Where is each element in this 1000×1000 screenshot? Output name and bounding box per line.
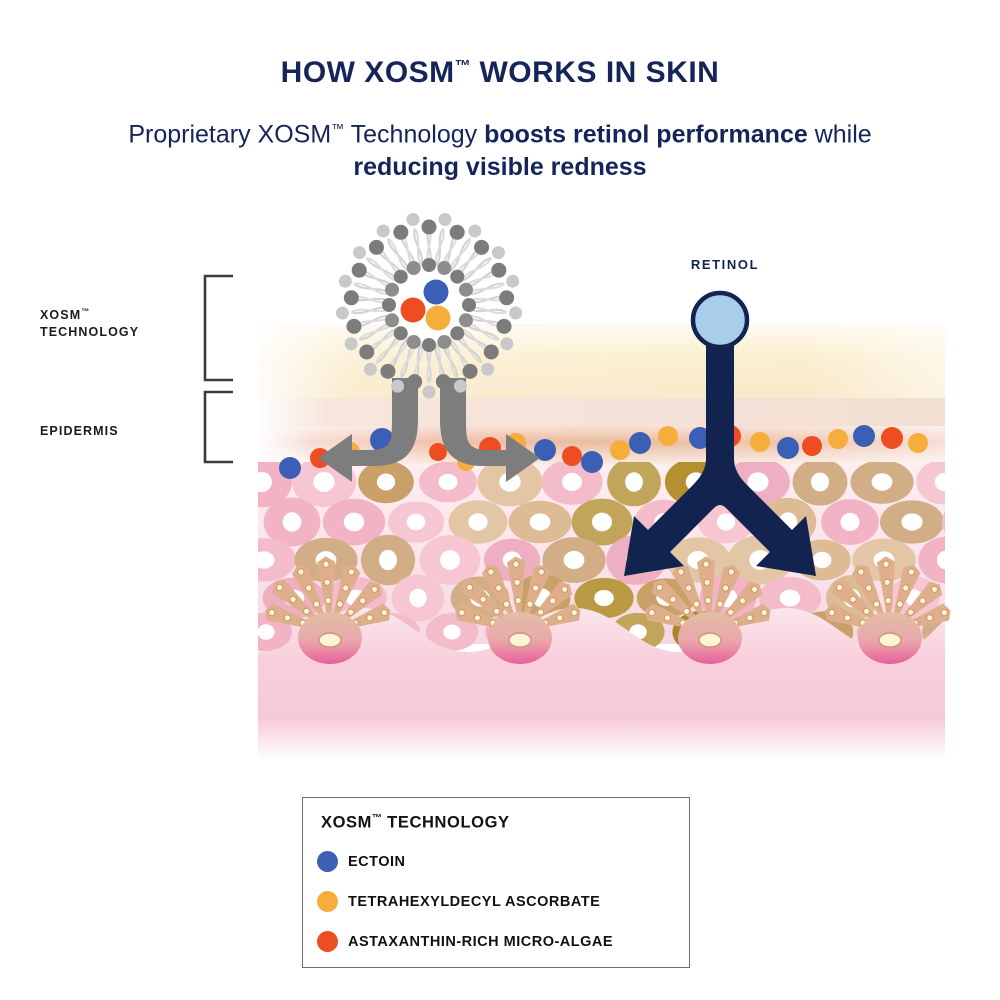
lipid-head: [407, 213, 420, 226]
legend-title: XOSM™ TECHNOLOGY: [321, 813, 510, 833]
melanin-granule: [684, 608, 690, 614]
melanin-granule: [313, 601, 319, 607]
cell-nucleus: [592, 513, 612, 532]
cell-nucleus: [780, 590, 801, 607]
cell-nucleus: [937, 551, 955, 570]
melanin-granule: [513, 561, 519, 567]
lipid-head: [509, 307, 522, 320]
infographic-root: HOW XOSM™ WORKS IN SKIN Proprietary XOSM…: [0, 0, 1000, 1000]
melanin-granule: [678, 569, 684, 575]
melanin-granule: [480, 596, 486, 602]
cell-nucleus: [562, 473, 582, 491]
molecule-ectoin: [853, 425, 875, 447]
legend-title-prefix: XOSM: [321, 814, 372, 832]
cell-nucleus: [344, 513, 365, 532]
melanin-granule: [494, 608, 500, 614]
melanin-granule: [381, 610, 387, 616]
melanin-granule: [527, 601, 533, 607]
cell-nucleus: [409, 589, 426, 608]
lipid-head: [499, 290, 514, 305]
melanin-granule: [325, 597, 331, 603]
melanin-granule: [557, 615, 563, 621]
melanin-granule: [883, 561, 889, 567]
cell-nucleus: [468, 513, 487, 530]
lipid-tail: [415, 228, 422, 265]
lipid-head: [359, 345, 374, 360]
layer-surface-film: [258, 398, 945, 426]
melanin-granule: [367, 615, 373, 621]
lipid-head: [454, 380, 467, 393]
lipid-head: [336, 307, 349, 320]
cell-nucleus: [438, 474, 457, 490]
melanin-granule: [514, 579, 520, 585]
lipid-head: [423, 386, 436, 399]
lipid-head: [339, 275, 352, 288]
skin-diagram: [0, 200, 1000, 760]
cell-nucleus: [813, 552, 832, 568]
legend-item-label: ASTAXANTHIN-RICH MICRO-ALGAE: [348, 934, 613, 950]
melanin-granule: [306, 585, 312, 591]
cell-nucleus: [253, 551, 274, 568]
lipid-head: [463, 364, 478, 379]
lipid-head: [385, 313, 399, 327]
cell-nucleus: [530, 513, 551, 530]
melanin-granule: [703, 561, 709, 567]
molecule-algae: [429, 443, 447, 461]
lipid-head: [491, 263, 506, 278]
melanin-granule: [908, 569, 914, 575]
melanin-granule: [693, 601, 699, 607]
cell-nucleus: [811, 473, 829, 492]
lipid-head: [380, 364, 395, 379]
melanin-granule: [723, 585, 729, 591]
cell-nucleus: [440, 550, 460, 570]
melanin-granule: [562, 586, 568, 592]
melanin-granule: [850, 596, 856, 602]
melanin-granule: [704, 579, 710, 585]
melanin-granule: [664, 615, 670, 621]
cell-nucleus: [377, 474, 395, 491]
melanin-granule: [290, 596, 296, 602]
melanin-granule: [686, 585, 692, 591]
molecule-ascorbate: [658, 426, 678, 446]
lipid-head: [474, 240, 489, 255]
melanin-granule: [466, 584, 472, 590]
lipid-head: [506, 275, 519, 288]
melanin-granule: [761, 610, 767, 616]
melanin-granule: [908, 609, 914, 615]
melanin-granule: [533, 585, 539, 591]
lipid-head: [459, 283, 473, 297]
trademark-icon: ™: [455, 58, 471, 75]
lipid-head: [407, 374, 422, 389]
layer-stratum-corneum: [258, 324, 945, 398]
lipid-head: [369, 240, 384, 255]
melanin-granule: [503, 601, 509, 607]
melanin-granule: [844, 615, 850, 621]
cell-nucleus: [717, 514, 735, 531]
melanin-granule: [360, 598, 366, 604]
lipid-head: [394, 270, 408, 284]
lipid-head: [382, 298, 396, 312]
subtitle-part2: Technology: [344, 120, 484, 148]
cell-nucleus: [935, 473, 953, 491]
melanin-granule: [884, 579, 890, 585]
algae-dot-icon: [317, 931, 338, 952]
melanin-granule: [488, 569, 494, 575]
melanin-granule: [538, 569, 544, 575]
trademark-icon: ™: [372, 813, 382, 824]
melanin-granule: [337, 601, 343, 607]
legend-item-ectoin: ECTOIN: [317, 851, 406, 872]
melanin-granule: [728, 609, 734, 615]
lipid-head: [500, 337, 513, 350]
melanin-granule: [372, 586, 378, 592]
lipid-head: [407, 261, 421, 275]
melanocyte-nucleus: [879, 633, 901, 647]
lipid-head: [422, 258, 436, 272]
molecule-algae: [802, 436, 822, 456]
legend-item-tetrahexyldecyl-ascorbate: TETRAHEXYLDECYL ASCORBATE: [317, 891, 600, 912]
lipid-head: [377, 225, 390, 238]
melanin-granule: [747, 615, 753, 621]
legend-item-label: TETRAHEXYLDECYL ASCORBATE: [348, 894, 600, 910]
lipid-head: [353, 246, 366, 259]
lipid-head: [364, 363, 377, 376]
payload-algae: [401, 298, 426, 323]
lipid-head: [393, 225, 408, 240]
lipid-head: [462, 298, 476, 312]
cell-nucleus: [901, 513, 922, 530]
melanin-granule: [496, 585, 502, 591]
molecule-ectoin: [629, 432, 651, 454]
lipid-head: [438, 213, 451, 226]
trademark-icon: ™: [331, 121, 344, 136]
melanin-granule: [284, 615, 290, 621]
page-subtitle: Proprietary XOSM™ Technology boosts reti…: [120, 112, 880, 184]
cell-nucleus: [313, 472, 334, 492]
lipid-head: [437, 261, 451, 275]
melanin-granule: [515, 597, 521, 603]
melanin-granule: [323, 561, 329, 567]
melanin-granule: [571, 610, 577, 616]
cell-nucleus: [564, 551, 585, 569]
molecule-ectoin: [279, 457, 301, 479]
legend-title-suffix: TECHNOLOGY: [382, 814, 510, 832]
melanin-granule: [941, 610, 947, 616]
melanin-granule: [670, 596, 676, 602]
lipid-head: [468, 225, 481, 238]
molecule-ascorbate: [828, 429, 848, 449]
melanin-granule: [717, 601, 723, 607]
subtitle-part1: Proprietary XOSM: [128, 120, 331, 148]
melanin-granule: [932, 586, 938, 592]
melanin-granule: [298, 569, 304, 575]
cell-nucleus: [872, 473, 893, 490]
melanin-granule: [897, 601, 903, 607]
molecule-ectoin: [581, 451, 603, 473]
molecule-ascorbate: [610, 440, 630, 460]
payload-ascorbate: [426, 306, 451, 331]
melanin-granule: [269, 610, 275, 616]
melanin-granule: [866, 585, 872, 591]
payload-ectoin: [424, 280, 449, 305]
lipid-head: [344, 290, 359, 305]
melanin-granule: [538, 609, 544, 615]
melanin-granule: [885, 597, 891, 603]
subtitle-bold1: boosts retinol performance: [484, 120, 808, 148]
cell-nucleus: [443, 624, 460, 639]
melanin-granule: [836, 584, 842, 590]
title-suffix: WORKS IN SKIN: [471, 56, 720, 89]
molecule-algae: [562, 446, 582, 466]
page-title: HOW XOSM™ WORKS IN SKIN: [0, 56, 1000, 90]
legend-item-label: ECTOIN: [348, 854, 406, 870]
molecule-ascorbate: [908, 433, 928, 453]
melanin-granule: [728, 569, 734, 575]
melanin-granule: [324, 579, 330, 585]
molecule-ectoin: [777, 437, 799, 459]
lipid-head: [345, 337, 358, 350]
lipid-head: [450, 326, 464, 340]
lipid-head: [346, 319, 361, 334]
cell-nucleus: [963, 513, 984, 532]
melanin-granule: [829, 610, 835, 616]
melanocyte-nucleus: [509, 633, 531, 647]
cell-nucleus: [407, 514, 425, 531]
melanin-granule: [920, 598, 926, 604]
legend-item-astaxanthin-rich-micro-algae: ASTAXANTHIN-RICH MICRO-ALGAE: [317, 931, 613, 952]
title-prefix: HOW XOSM: [281, 56, 455, 89]
melanin-granule: [276, 584, 282, 590]
melanin-granule: [873, 601, 879, 607]
melanin-granule: [550, 598, 556, 604]
lipid-head: [450, 270, 464, 284]
lipid-head: [450, 225, 465, 240]
melanin-granule: [459, 610, 465, 616]
cell-nucleus: [625, 472, 643, 491]
melanin-granule: [348, 609, 354, 615]
lipid-head: [385, 283, 399, 297]
keratinocyte-cell: [942, 498, 1000, 545]
melanocyte-nucleus: [319, 633, 341, 647]
lipid-head: [407, 335, 421, 349]
lipid-head: [459, 313, 473, 327]
ectoin-dot-icon: [317, 851, 338, 872]
lipid-head: [422, 220, 437, 235]
cell-nucleus: [594, 590, 614, 606]
melanin-granule: [864, 608, 870, 614]
melanin-granule: [348, 569, 354, 575]
cell-nucleus: [257, 624, 274, 640]
melanin-granule: [705, 597, 711, 603]
melanin-granule: [903, 585, 909, 591]
ascorbate-dot-icon: [317, 891, 338, 912]
lipid-head: [484, 345, 499, 360]
melanin-granule: [740, 598, 746, 604]
legend-box: XOSM™ TECHNOLOGY ECTOIN TETRAHEXYLDECYL …: [302, 797, 690, 968]
lipid-head: [422, 338, 436, 352]
lipid-head: [391, 380, 404, 393]
melanin-granule: [656, 584, 662, 590]
retinol-molecule-icon: [693, 293, 747, 347]
melanin-granule: [752, 586, 758, 592]
melanin-granule: [927, 615, 933, 621]
lipid-head: [481, 363, 494, 376]
melanin-granule: [858, 569, 864, 575]
melanocyte-nucleus: [699, 633, 721, 647]
subtitle-bold2: reducing visible redness: [353, 153, 646, 181]
lipid-head: [436, 374, 451, 389]
melanin-granule: [343, 585, 349, 591]
cell-nucleus: [379, 550, 397, 570]
lipid-head: [394, 326, 408, 340]
keratinocyte-cell: [918, 537, 973, 584]
lipid-head: [437, 335, 451, 349]
subtitle-part3: while: [808, 120, 872, 148]
melanin-granule: [649, 610, 655, 616]
molecule-ascorbate: [750, 432, 770, 452]
melanin-granule: [304, 608, 310, 614]
melanin-granule: [474, 615, 480, 621]
cell-nucleus: [840, 513, 859, 531]
cell-nucleus: [283, 512, 302, 532]
lipid-head: [352, 263, 367, 278]
cell-nucleus: [252, 472, 272, 492]
molecule-algae: [881, 427, 903, 449]
lipid-head: [492, 246, 505, 259]
lipid-head: [497, 319, 512, 334]
